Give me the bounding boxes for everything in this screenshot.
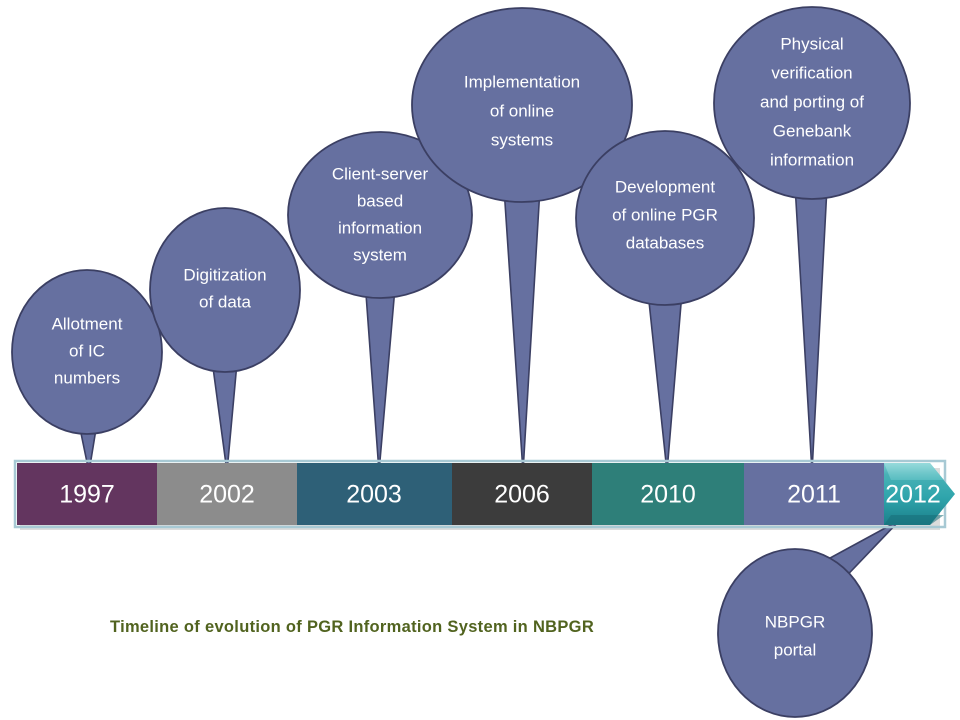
timeline-year-2003: 2003 <box>346 481 402 509</box>
callout-2003-line-2: information <box>338 218 422 237</box>
timeline-year-2011: 2011 <box>787 481 841 509</box>
callout-1997-line-1: of IC <box>69 341 105 360</box>
callout-2012[interactable]: NBPGR portal <box>718 549 872 717</box>
timeline-bar: 1997 2002 2003 2006 2010 <box>15 461 955 527</box>
callout-2010-line-1: of online PGR <box>612 205 718 224</box>
callout-2011-line-2: and porting of <box>760 92 864 111</box>
callout-2011[interactable]: Physical verification and porting of Gen… <box>714 7 910 199</box>
callout-1997[interactable]: Allotment of IC numbers <box>12 270 162 434</box>
tail-2011 <box>794 168 828 472</box>
timeline-segment-2002[interactable]: 2002 <box>157 463 297 525</box>
callout-2012-line-1: portal <box>774 640 817 659</box>
callout-1997-line-0: Allotment <box>52 314 123 333</box>
callout-2011-line-3: Genebank <box>773 121 852 140</box>
callout-2003-line-0: Client-server <box>332 164 429 183</box>
callout-2003-line-3: system <box>353 245 407 264</box>
callout-1997-line-2: numbers <box>54 368 120 387</box>
callout-2002-line-1: of data <box>199 292 252 311</box>
callout-2003-line-1: based <box>357 191 403 210</box>
figure-caption: Timeline of evolution of PGR Information… <box>110 618 594 636</box>
timeline-figure: Allotment of IC numbers Digitization of … <box>0 0 960 720</box>
callout-2011-line-1: verification <box>771 63 852 82</box>
timeline-segment-2006[interactable]: 2006 <box>452 463 592 525</box>
callout-2011-line-0: Physical <box>780 34 843 53</box>
tail-2010 <box>648 292 682 472</box>
timeline-segment-1997[interactable]: 1997 <box>17 463 157 525</box>
timeline-segment-2003[interactable]: 2003 <box>297 463 452 525</box>
callout-2002-line-0: Digitization <box>183 265 266 284</box>
timeline-year-2010: 2010 <box>640 481 696 509</box>
callout-2010[interactable]: Development of online PGR databases <box>576 131 754 305</box>
callout-2002[interactable]: Digitization of data <box>150 208 300 372</box>
callout-2006-line-1: of online <box>490 101 554 120</box>
timeline-diagram: Allotment of IC numbers Digitization of … <box>0 0 960 720</box>
callout-bubbles: Allotment of IC numbers Digitization of … <box>12 7 910 717</box>
callout-2006-line-0: Implementation <box>464 72 580 91</box>
timeline-year-2012: 2012 <box>885 481 941 509</box>
callout-2012-line-0: NBPGR <box>765 612 825 631</box>
timeline-segment-2011[interactable]: 2011 <box>744 463 884 525</box>
callout-2002-bubble[interactable] <box>150 208 300 372</box>
timeline-year-2006: 2006 <box>494 481 550 509</box>
callout-2010-line-2: databases <box>626 233 704 252</box>
timeline-year-1997: 1997 <box>59 481 115 509</box>
timeline-year-2002: 2002 <box>199 481 255 509</box>
callout-2006-line-2: systems <box>491 130 553 149</box>
timeline-arrow-highlight <box>884 463 944 480</box>
callout-2010-line-0: Development <box>615 177 715 196</box>
timeline-segment-2010[interactable]: 2010 <box>592 463 744 525</box>
tail-2006 <box>504 188 540 472</box>
callout-2012-bubble[interactable] <box>718 549 872 717</box>
callout-2011-line-4: information <box>770 150 854 169</box>
